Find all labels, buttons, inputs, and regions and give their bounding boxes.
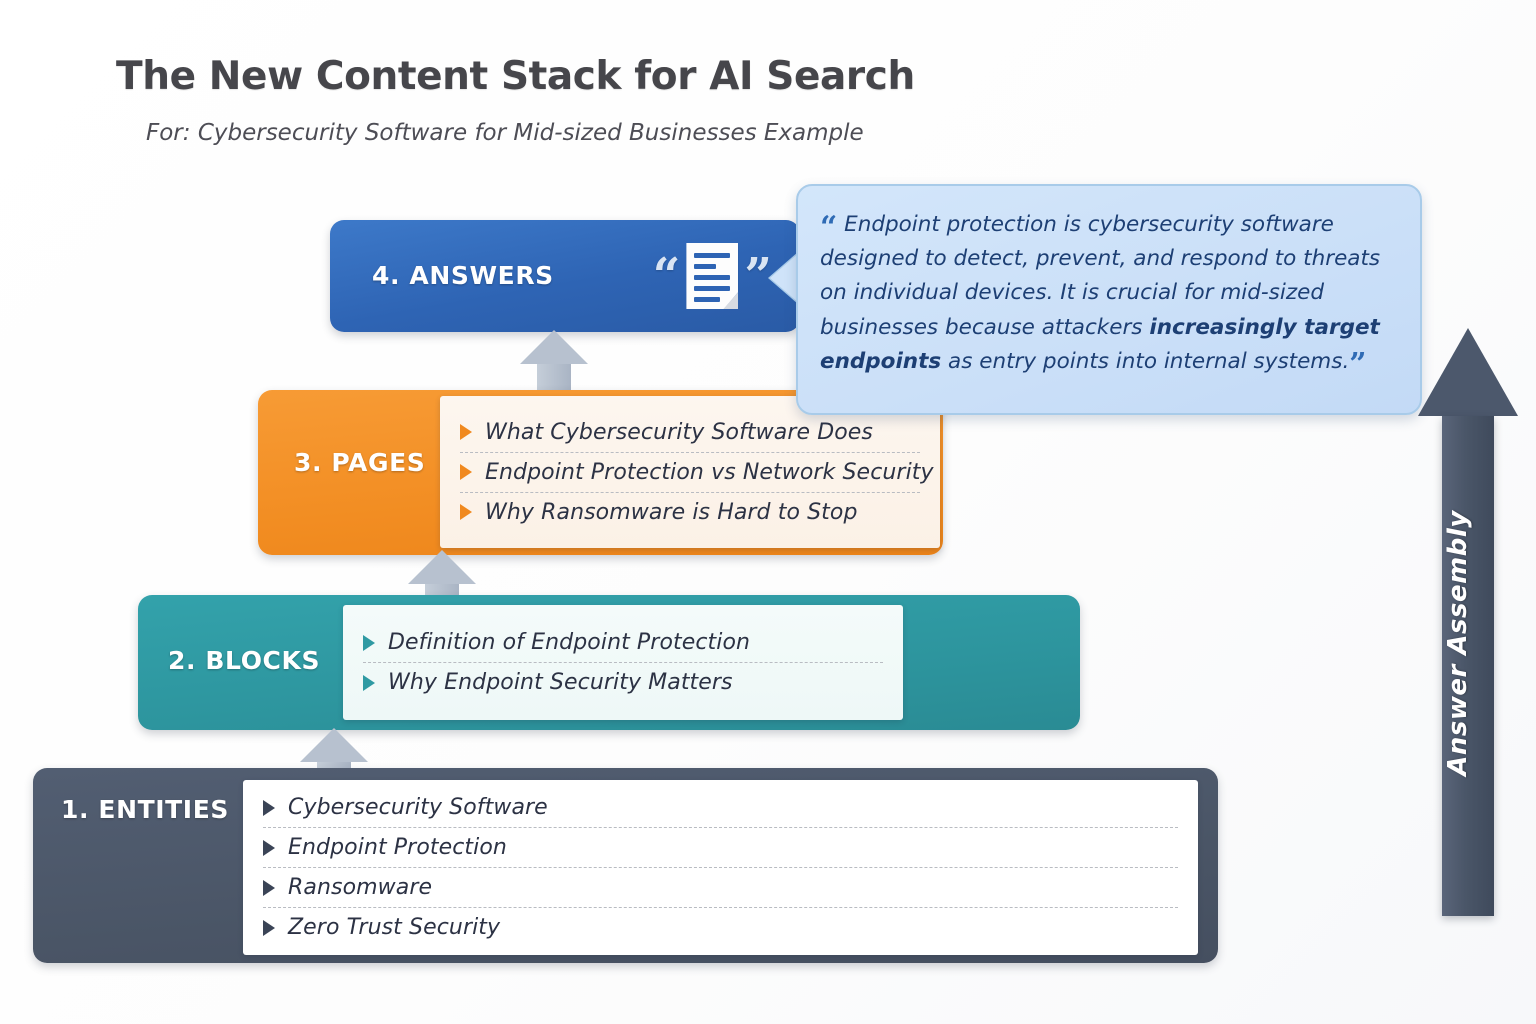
- list-item[interactable]: Why Endpoint Security Matters: [363, 662, 883, 702]
- list-item[interactable]: Cybersecurity Software: [263, 788, 1178, 827]
- list-item-label: Endpoint Protection vs Network Security: [485, 460, 934, 485]
- list-item[interactable]: What Cybersecurity Software Does: [460, 413, 920, 452]
- triangle-bullet-icon: [363, 635, 375, 651]
- tier-answers[interactable]: 4. ANSWERS “ ”: [330, 220, 800, 332]
- list-item-label: Why Endpoint Security Matters: [388, 670, 733, 695]
- answer-speech-bubble: “ Endpoint protection is cybersecurity s…: [796, 184, 1422, 415]
- arrow-pages-to-answers: [520, 330, 588, 394]
- list-item-label: What Cybersecurity Software Does: [485, 420, 873, 445]
- tier-pages-label: 3. PAGES: [294, 448, 425, 477]
- list-item[interactable]: Ransomware: [263, 867, 1178, 907]
- triangle-bullet-icon: [263, 840, 275, 856]
- list-item-label: Ransomware: [288, 875, 432, 900]
- page-title: The New Content Stack for AI Search: [116, 54, 915, 99]
- answers-decoration: “ ”: [653, 240, 772, 312]
- triangle-bullet-icon: [460, 504, 472, 520]
- list-item[interactable]: Definition of Endpoint Protection: [363, 623, 883, 662]
- answer-quote-part2: as entry points into internal systems.: [941, 349, 1349, 374]
- tier-entities-label: 1. ENTITIES: [61, 795, 229, 824]
- list-item[interactable]: Why Ransomware is Hard to Stop: [460, 492, 920, 532]
- quote-open-icon: “: [653, 252, 681, 300]
- page-subtitle: For: Cybersecurity Software for Mid-size…: [146, 120, 864, 146]
- triangle-bullet-icon: [363, 675, 375, 691]
- triangle-bullet-icon: [263, 880, 275, 896]
- list-item-label: Zero Trust Security: [288, 915, 500, 940]
- triangle-bullet-icon: [460, 464, 472, 480]
- blocks-list-panel: Definition of Endpoint Protection Why En…: [343, 605, 903, 720]
- quote-close-icon: ”: [1349, 347, 1366, 382]
- diagram-canvas: The New Content Stack for AI Search For:…: [0, 0, 1536, 1024]
- list-item-label: Definition of Endpoint Protection: [388, 630, 750, 655]
- triangle-bullet-icon: [460, 424, 472, 440]
- tier-blocks-label: 2. BLOCKS: [168, 646, 320, 675]
- pages-list-panel: What Cybersecurity Software Does Endpoin…: [440, 396, 940, 548]
- triangle-bullet-icon: [263, 800, 275, 816]
- arrow-head-icon: [1418, 328, 1518, 416]
- answer-quote-text: “ Endpoint protection is cybersecurity s…: [820, 208, 1394, 379]
- triangle-bullet-icon: [263, 920, 275, 936]
- entities-list-panel: Cybersecurity Software Endpoint Protecti…: [243, 780, 1198, 955]
- quote-close-icon: ”: [744, 252, 772, 300]
- quote-open-icon: “: [820, 210, 837, 245]
- tier-answers-label: 4. ANSWERS: [372, 261, 554, 290]
- list-item[interactable]: Endpoint Protection vs Network Security: [460, 452, 920, 492]
- list-item-label: Why Ransomware is Hard to Stop: [485, 500, 858, 525]
- document-icon: [686, 243, 738, 309]
- list-item-label: Cybersecurity Software: [288, 795, 548, 820]
- list-item[interactable]: Zero Trust Security: [263, 907, 1178, 947]
- answer-assembly-label: Answer Assembly: [1443, 483, 1473, 803]
- answer-assembly-arrow: Answer Assembly: [1418, 328, 1518, 916]
- list-item-label: Endpoint Protection: [288, 835, 507, 860]
- list-item[interactable]: Endpoint Protection: [263, 827, 1178, 867]
